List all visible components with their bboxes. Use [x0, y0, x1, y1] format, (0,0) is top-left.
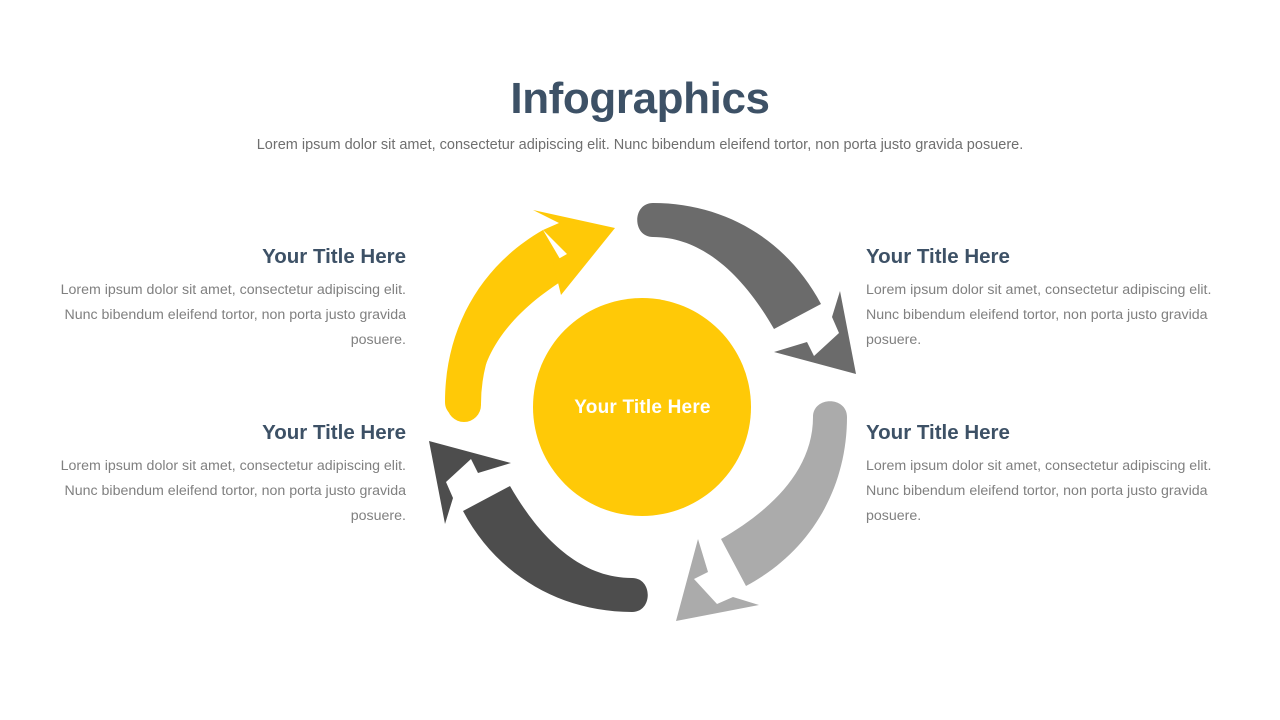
info-block-top-left[interactable]: Your Title Here Lorem ipsum dolor sit am…: [38, 245, 406, 353]
info-block-title: Your Title Here: [38, 421, 406, 446]
info-block-title: Your Title Here: [866, 245, 1234, 270]
info-block-body: Lorem ipsum dolor sit amet, consectetur …: [38, 278, 406, 353]
info-block-bottom-right[interactable]: Your Title Here Lorem ipsum dolor sit am…: [866, 421, 1234, 529]
cycle-diagram: Your Title Here: [425, 190, 860, 625]
info-block-body: Lorem ipsum dolor sit amet, consectetur …: [866, 278, 1234, 353]
header: Infographics Lorem ipsum dolor sit amet,…: [0, 76, 1280, 155]
page-subtitle: Lorem ipsum dolor sit amet, consectetur …: [0, 136, 1280, 155]
center-circle[interactable]: [533, 298, 751, 516]
info-block-body: Lorem ipsum dolor sit amet, consectetur …: [866, 454, 1234, 529]
info-block-title: Your Title Here: [38, 245, 406, 270]
info-block-title: Your Title Here: [866, 421, 1234, 446]
page-title: Infographics: [0, 76, 1280, 122]
info-block-top-right[interactable]: Your Title Here Lorem ipsum dolor sit am…: [866, 245, 1234, 353]
info-block-bottom-left[interactable]: Your Title Here Lorem ipsum dolor sit am…: [38, 421, 406, 529]
info-block-body: Lorem ipsum dolor sit amet, consectetur …: [38, 454, 406, 529]
